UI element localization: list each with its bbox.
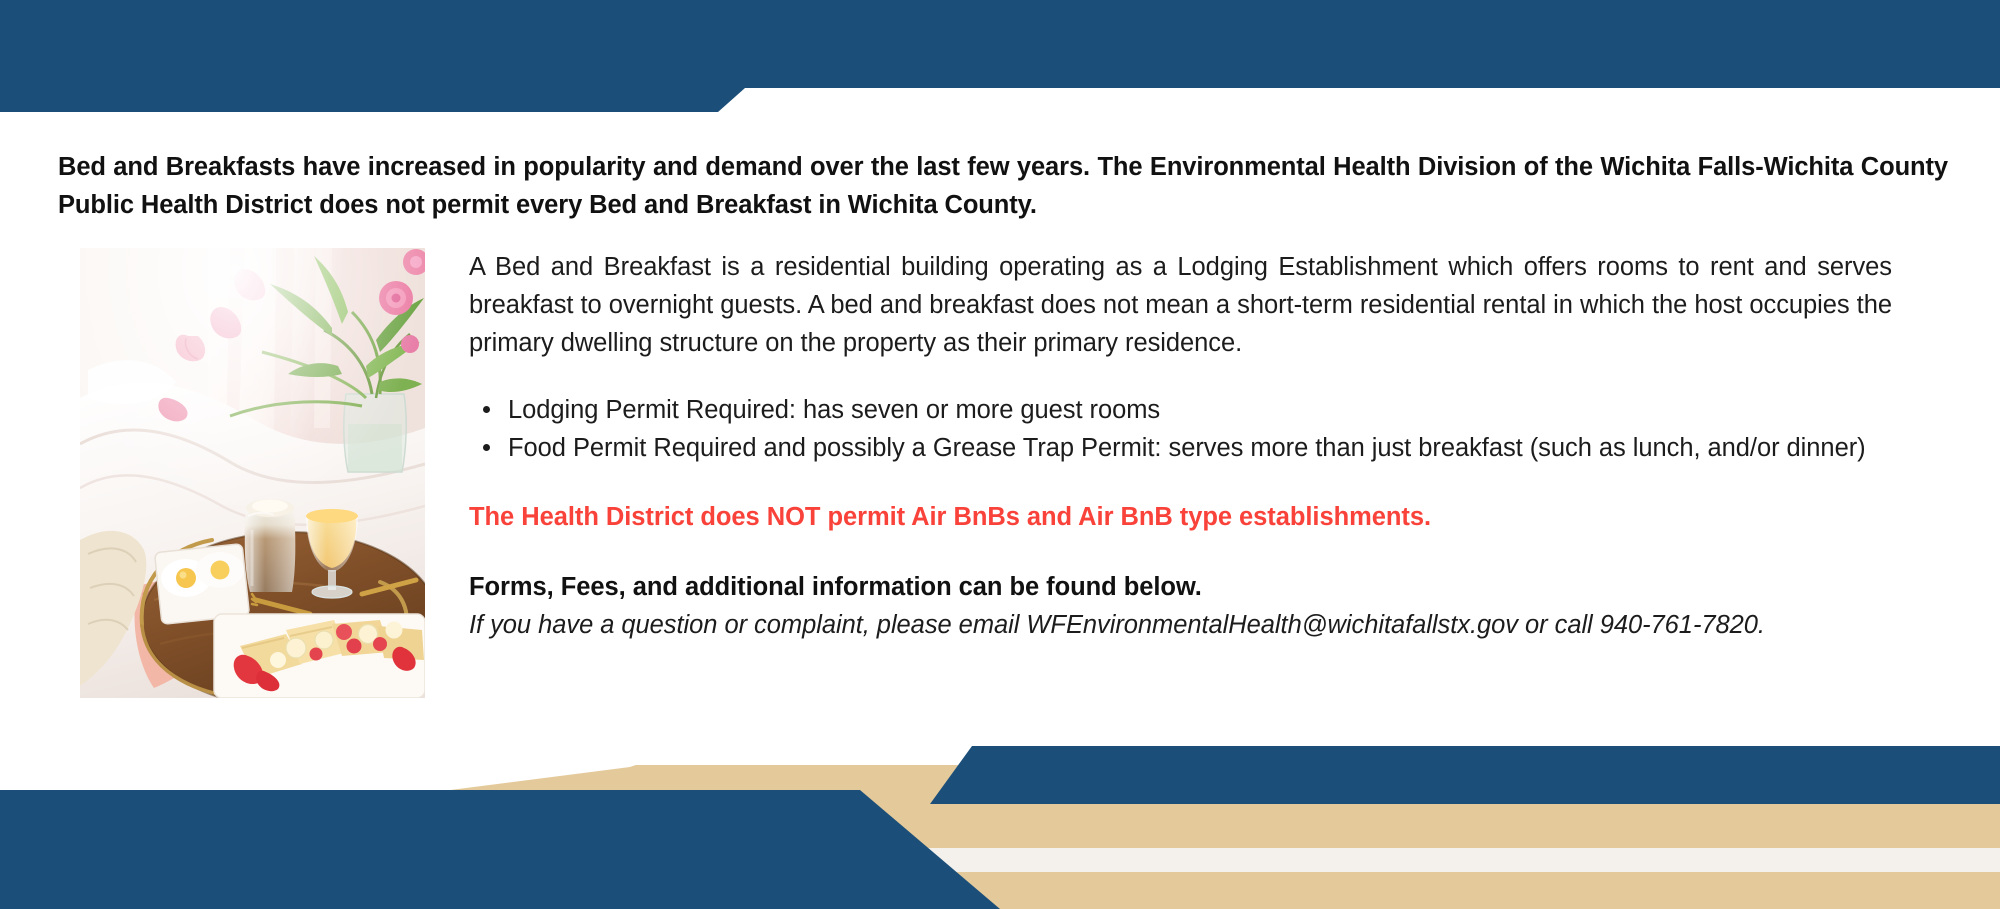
permit-requirements-list: Lodging Permit Required: has seven or mo… bbox=[469, 391, 1892, 467]
list-item-label: Lodging Permit Required: has seven or mo… bbox=[508, 396, 1160, 424]
airbnb-alert-notice: The Health District does NOT permit Air … bbox=[469, 499, 1892, 535]
blue-block-left bbox=[0, 790, 1000, 909]
tan-band-lower bbox=[906, 872, 2000, 909]
list-item-label: Food Permit Required and possibly a Grea… bbox=[508, 434, 1866, 462]
page-root: Bed and Breakfasts have increased in pop… bbox=[0, 0, 2000, 909]
contact-info-line: If you have a question or complaint, ple… bbox=[469, 607, 1892, 643]
page-lede: Bed and Breakfasts have increased in pop… bbox=[58, 148, 1948, 224]
breakfast-in-bed-photo bbox=[80, 248, 425, 698]
bullet-icon bbox=[483, 406, 490, 413]
body-row: A Bed and Breakfast is a residential bui… bbox=[58, 248, 1948, 698]
bullet-icon bbox=[483, 444, 490, 451]
cream-divider-stripe bbox=[894, 848, 2000, 872]
top-banner-shape bbox=[0, 0, 2000, 112]
forms-fees-heading: Forms, Fees, and additional information … bbox=[469, 569, 1892, 605]
list-item: Food Permit Required and possibly a Grea… bbox=[469, 429, 1892, 467]
breakfast-photo-illustration bbox=[80, 248, 425, 698]
top-blue-banner bbox=[0, 0, 2000, 112]
list-item: Lodging Permit Required: has seven or mo… bbox=[469, 391, 1892, 429]
content-area: Bed and Breakfasts have increased in pop… bbox=[58, 148, 1948, 698]
text-column: A Bed and Breakfast is a residential bui… bbox=[469, 248, 1948, 643]
bottom-decorative-banner bbox=[0, 740, 2000, 909]
definition-paragraph: A Bed and Breakfast is a residential bui… bbox=[469, 248, 1892, 362]
blue-accent-top-right bbox=[930, 746, 2000, 804]
